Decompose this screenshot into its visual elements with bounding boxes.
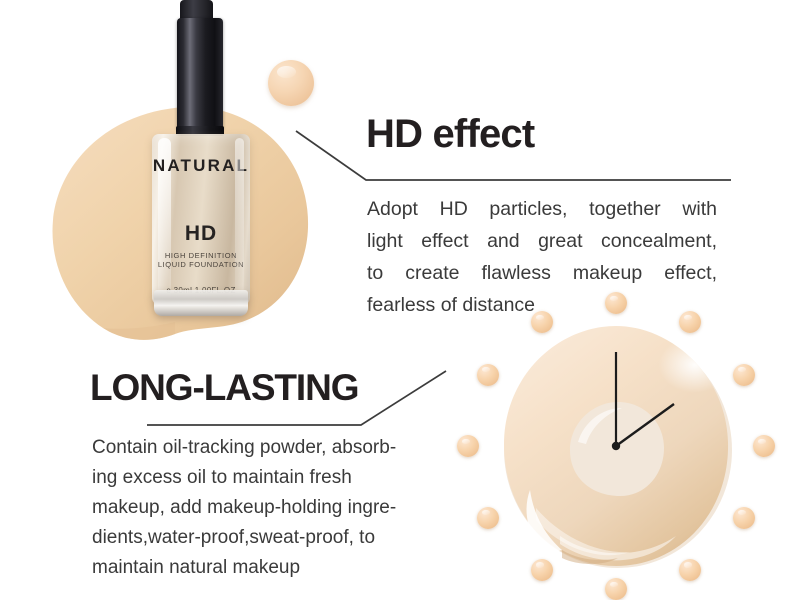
foundation-bottle: NATURAL HD HIGH DEFINITION LIQUID FOUNDA… (148, 18, 256, 318)
bottle-base (154, 290, 248, 316)
clock-tick-dot (531, 559, 553, 581)
bottle-descriptor-line-2: LIQUID FOUNDATION (152, 260, 250, 269)
long-lasting-heading: LONG-LASTING (90, 367, 358, 409)
hd-effect-heading: HD effect (366, 112, 534, 157)
clock-tick-dot (679, 559, 701, 581)
hd-effect-body-line: Adopt HD particles, together with (367, 193, 717, 225)
hd-effect-body: Adopt HD particles, together with light … (367, 193, 717, 321)
bottle-glass-body: NATURAL HD HIGH DEFINITION LIQUID FOUNDA… (152, 134, 250, 306)
long-lasting-body-line: ing excess oil to maintain fresh (92, 463, 382, 493)
long-lasting-body-line: makeup, add makeup-holding ingre- (92, 493, 382, 523)
pump-cap (177, 18, 223, 130)
clock-hands (452, 292, 792, 600)
clock-center-pin (612, 442, 620, 450)
clock-tick-dot (753, 435, 775, 457)
hd-effect-body-line: light effect and great concealment, (367, 225, 717, 257)
bottle-descriptor-line-1: HIGH DEFINITION (152, 251, 250, 260)
foundation-droplet (268, 60, 314, 106)
long-lasting-body-line: Contain oil-tracking powder, absorb- (92, 433, 382, 463)
clock-tick-dot (477, 364, 499, 386)
long-lasting-body-line: maintain natural makeup (92, 553, 382, 583)
bottle-brand-label: NATURAL (152, 156, 250, 176)
clock-hour-hand (616, 404, 674, 446)
hd-effect-body-line: fearless of distance (367, 289, 717, 321)
hd-effect-body-line: to create flawless makeup effect, (367, 257, 717, 289)
clock-tick-dot (733, 507, 755, 529)
long-lasting-clock-graphic (452, 292, 792, 600)
clock-tick-dot (457, 435, 479, 457)
long-lasting-body-line: dients,water-proof,sweat-proof, to (92, 523, 382, 553)
product-feature-banner: NATURAL HD HIGH DEFINITION LIQUID FOUNDA… (0, 0, 800, 600)
clock-tick-dot (733, 364, 755, 386)
long-lasting-body: Contain oil-tracking powder, absorb- ing… (92, 433, 382, 583)
clock-tick-dot (605, 578, 627, 600)
clock-tick-dot (477, 507, 499, 529)
bottle-line-label: HD (152, 222, 250, 246)
product-shot: NATURAL HD HIGH DEFINITION LIQUID FOUNDA… (0, 0, 420, 380)
